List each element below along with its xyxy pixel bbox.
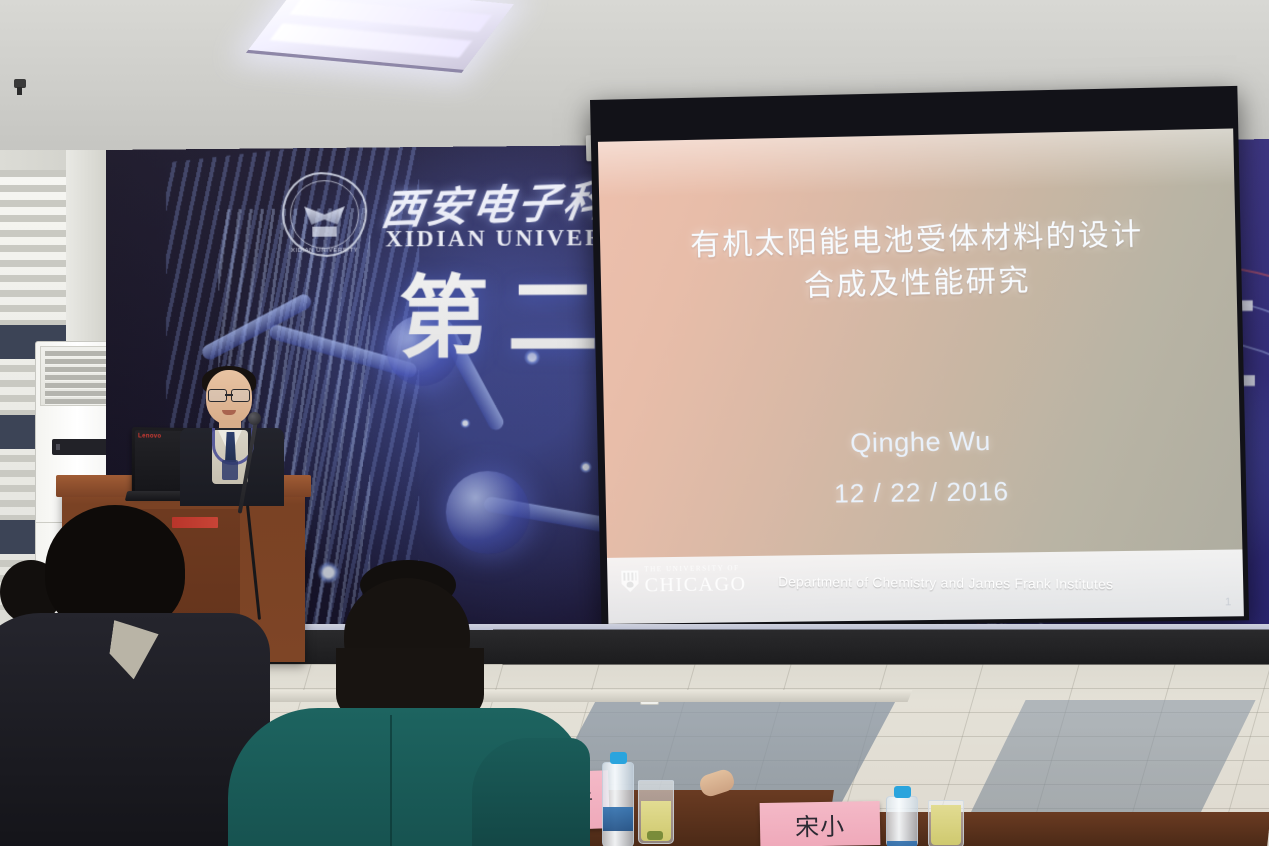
bottle-cap	[610, 752, 627, 764]
tea-leaves	[647, 831, 663, 840]
uchicago-wordmark: THE UNIVERSITY OF CHICAGO	[644, 565, 747, 595]
seal-petal	[282, 172, 367, 257]
molecule-atom	[387, 315, 459, 386]
banner-sparkle	[580, 461, 592, 473]
presenter-badge	[222, 460, 238, 480]
banner-sparkle	[460, 418, 470, 428]
slide-date: 12 / 22 / 2016	[605, 473, 1241, 513]
banner-sparkle	[524, 349, 540, 365]
molecule-bond	[200, 292, 314, 362]
xidian-university-logo: XIDIAN UNIVERSITY 西安电子科技大学 XIDIAN UNIVER…	[282, 162, 606, 274]
sprinkler-head-icon	[14, 79, 26, 88]
laptop-brand-label: Lenovo	[138, 433, 161, 439]
uchicago-logo-name: CHICAGO	[644, 574, 746, 595]
uchicago-shield-icon	[621, 570, 638, 592]
seal-ring	[290, 180, 359, 249]
seal-base	[312, 227, 336, 237]
water-bottle	[602, 762, 634, 846]
slide-department-text: Department of Chemistry and James Frank …	[778, 574, 1113, 592]
uchicago-logo: THE UNIVERSITY OF CHICAGO	[621, 565, 747, 596]
molecule-bond	[435, 318, 506, 432]
screen-glare	[598, 128, 1234, 197]
bottle-cap	[894, 786, 911, 798]
seal-emblem	[304, 206, 345, 224]
uchicago-logo-the: THE UNIVERSITY OF	[644, 565, 746, 573]
slide-surface: 有机太阳能电池受体材料的设计 合成及性能研究 Qinghe Wu 12 / 22…	[598, 128, 1244, 623]
audience-member-foreground-left	[0, 505, 260, 846]
seal-text: XIDIAN UNIVERSITY	[282, 248, 367, 255]
eyeglasses-icon	[208, 389, 250, 400]
projection-screen: 有机太阳能电池受体材料的设计 合成及性能研究 Qinghe Wu 12 / 22…	[590, 86, 1249, 628]
tea-liquid	[931, 805, 961, 845]
audience-member-foreground-center	[240, 560, 570, 846]
tea-glass	[638, 780, 674, 844]
molecule-bond	[268, 323, 419, 379]
light-tube	[269, 23, 472, 58]
conference-room-photo: XIDIAN UNIVERSITY 西安电子科技大学 XIDIAN UNIVER…	[0, 0, 1269, 846]
slide-presenter-name: Qinghe Wu	[604, 422, 1240, 463]
tea-glass	[928, 800, 964, 846]
microphone-icon	[248, 412, 261, 425]
slide-footer-bar: THE UNIVERSITY OF CHICAGO Department of …	[607, 549, 1244, 623]
bottle-label	[887, 841, 917, 846]
water-bottle	[886, 796, 918, 846]
xidian-seal-icon: XIDIAN UNIVERSITY	[282, 172, 367, 257]
slide-page-number: 1	[1225, 596, 1232, 608]
presenter-person	[178, 370, 286, 505]
bottle-label	[603, 807, 633, 831]
slide-title: 有机太阳能电池受体材料的设计 合成及性能研究	[600, 212, 1238, 313]
fluorescent-light-fixture	[246, 0, 514, 73]
coat-seam	[390, 715, 392, 846]
audience-shoulder	[472, 738, 590, 846]
name-card: 宋小	[760, 801, 881, 846]
molecule-atom	[446, 471, 530, 555]
